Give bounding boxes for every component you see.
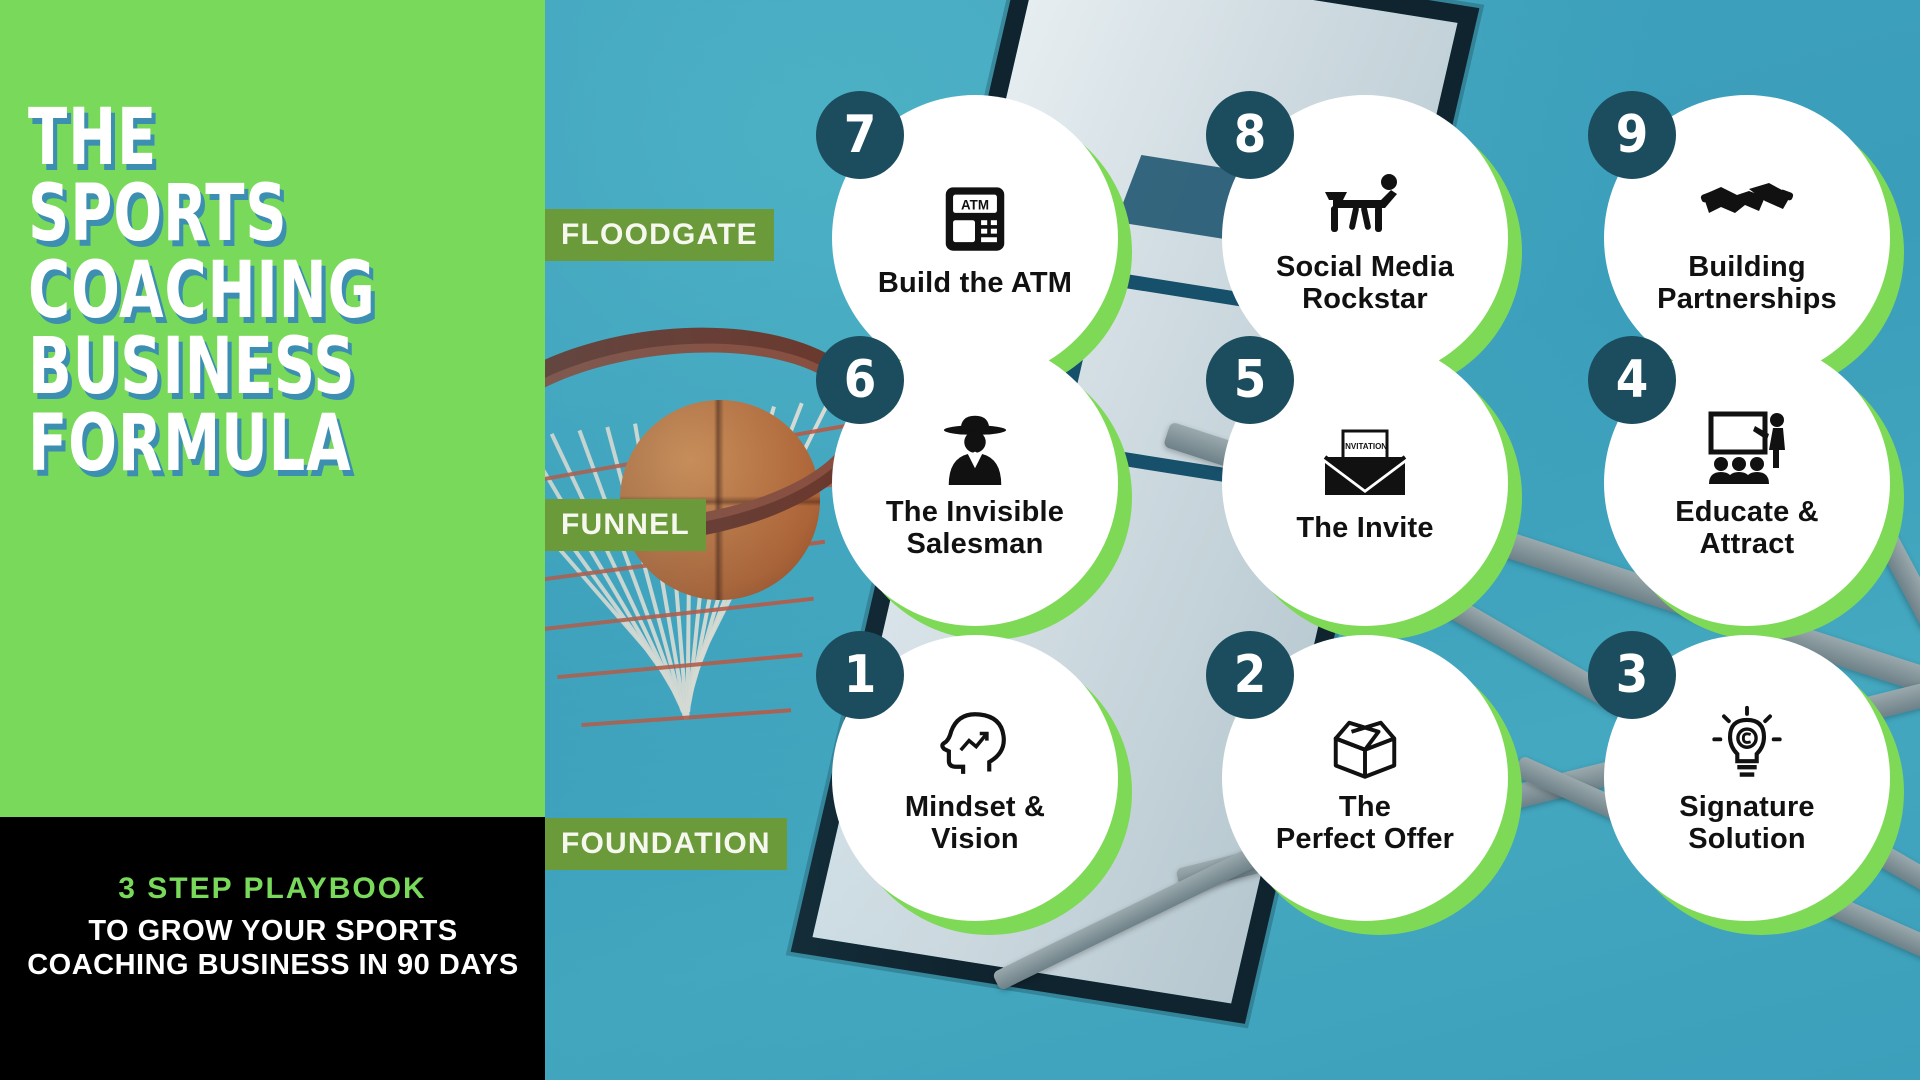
step-label: ThePerfect Offer bbox=[1276, 791, 1454, 856]
title-line-5: FORMULA bbox=[28, 406, 438, 482]
step-label: Educate &Attract bbox=[1675, 496, 1819, 561]
person-lounging-icon bbox=[1313, 161, 1417, 245]
step-number-badge: 3 bbox=[1588, 631, 1676, 719]
page-title: THE SPORTS COACHING BUSINESS FORMULA bbox=[28, 100, 438, 482]
step-node-2[interactable]: ThePerfect Offer 2 bbox=[1222, 635, 1522, 935]
title-line-4: BUSINESS bbox=[28, 329, 438, 405]
step-label: SignatureSolution bbox=[1679, 791, 1815, 856]
atm-machine-icon: ATM bbox=[923, 177, 1027, 261]
handshake-icon bbox=[1695, 161, 1799, 245]
step-number-badge: 5 bbox=[1206, 336, 1294, 424]
step-number-badge: 1 bbox=[816, 631, 904, 719]
step-number-badge: 9 bbox=[1588, 91, 1676, 179]
title-line-3: COACHING bbox=[28, 253, 438, 329]
step-number-badge: 2 bbox=[1206, 631, 1294, 719]
title-line-1: THE bbox=[28, 100, 438, 176]
step-label: BuildingPartnerships bbox=[1657, 251, 1837, 316]
businessman-hat-icon bbox=[923, 406, 1027, 490]
stage-label-floodgate: FLOODGATE bbox=[545, 209, 774, 261]
step-label: The InvisibleSalesman bbox=[886, 496, 1064, 561]
step-label: Mindset &Vision bbox=[905, 791, 1045, 856]
svg-text:INVITATION: INVITATION bbox=[1343, 442, 1387, 451]
head-growth-arrow-icon bbox=[923, 701, 1027, 785]
presentation-teacher-icon bbox=[1695, 406, 1799, 490]
svg-text:ATM: ATM bbox=[961, 197, 989, 212]
kicker-text: 3 STEP PLAYBOOK bbox=[0, 872, 545, 906]
invitation-envelope-icon: INVITATION bbox=[1313, 422, 1417, 506]
step-label: Build the ATM bbox=[878, 267, 1072, 299]
open-box-icon bbox=[1313, 701, 1417, 785]
subheading-text: TO GROW YOUR SPORTS COACHING BUSINESS IN… bbox=[18, 915, 528, 982]
title-line-2: SPORTS bbox=[28, 176, 438, 252]
step-number-badge: 4 bbox=[1588, 336, 1676, 424]
step-node-5[interactable]: INVITATION The Invite 5 bbox=[1222, 340, 1522, 640]
step-node-1[interactable]: Mindset &Vision 1 bbox=[832, 635, 1132, 935]
infographic-canvas: THE SPORTS COACHING BUSINESS FORMULA 3 S… bbox=[0, 0, 1920, 1080]
step-node-3[interactable]: SignatureSolution 3 bbox=[1604, 635, 1904, 935]
left-title-panel: THE SPORTS COACHING BUSINESS FORMULA 3 S… bbox=[0, 0, 545, 1080]
step-number-badge: 8 bbox=[1206, 91, 1294, 179]
step-label: Social MediaRockstar bbox=[1276, 251, 1454, 316]
step-number-badge: 6 bbox=[816, 336, 904, 424]
stage-label-funnel: FUNNEL bbox=[545, 499, 706, 551]
stage-label-foundation: FOUNDATION bbox=[545, 818, 787, 870]
step-node-6[interactable]: The InvisibleSalesman 6 bbox=[832, 340, 1132, 640]
step-label: The Invite bbox=[1296, 512, 1433, 544]
lightbulb-copyright-icon bbox=[1695, 701, 1799, 785]
step-number-badge: 7 bbox=[816, 91, 904, 179]
step-node-4[interactable]: Educate &Attract 4 bbox=[1604, 340, 1904, 640]
